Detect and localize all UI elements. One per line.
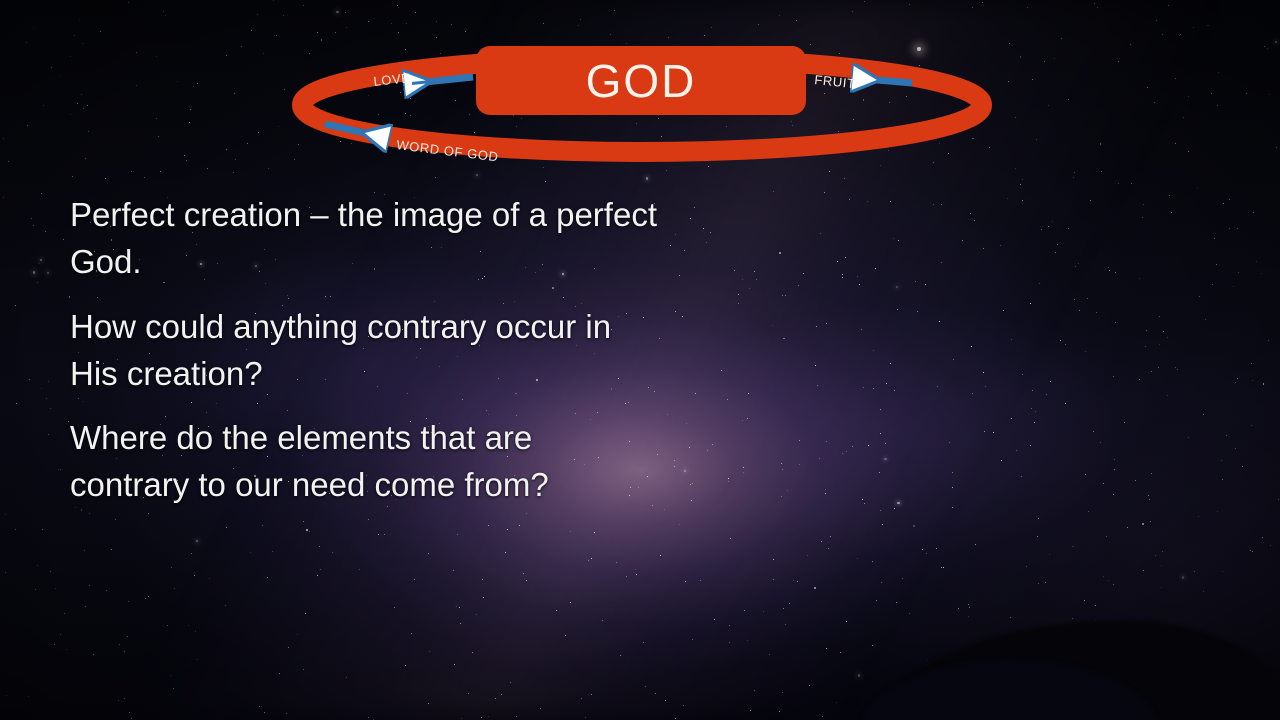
star	[1222, 571, 1223, 572]
star	[815, 365, 816, 366]
star	[703, 228, 704, 229]
star	[495, 698, 496, 699]
star	[1155, 555, 1156, 556]
star	[727, 399, 728, 400]
star	[738, 294, 739, 295]
star	[1041, 229, 1042, 230]
star	[37, 282, 38, 283]
star	[807, 555, 808, 556]
star	[37, 565, 38, 566]
star	[985, 386, 986, 387]
star	[1161, 565, 1162, 566]
star	[209, 578, 210, 579]
star	[279, 673, 280, 674]
star	[1036, 139, 1037, 140]
star	[1020, 184, 1021, 185]
star	[1143, 570, 1144, 571]
star	[1090, 200, 1091, 201]
star	[1246, 93, 1247, 94]
star	[15, 529, 16, 530]
star	[828, 548, 829, 549]
star	[70, 114, 71, 115]
star	[1262, 537, 1263, 538]
star	[754, 271, 755, 272]
star	[1148, 495, 1149, 496]
star	[707, 450, 708, 451]
star	[1075, 266, 1076, 267]
star	[54, 644, 55, 645]
star	[1221, 460, 1222, 461]
star	[16, 403, 17, 404]
star	[1263, 383, 1265, 385]
star	[42, 529, 43, 530]
star	[191, 553, 192, 554]
star	[817, 385, 818, 386]
star	[769, 654, 770, 655]
star	[70, 56, 71, 57]
star	[158, 136, 159, 137]
star	[93, 654, 94, 655]
star	[1278, 499, 1279, 500]
star	[797, 581, 798, 582]
star	[1207, 25, 1209, 27]
star	[1242, 466, 1243, 467]
star	[1142, 217, 1143, 218]
star	[1057, 244, 1058, 245]
star	[1045, 582, 1046, 583]
star	[1238, 272, 1239, 273]
star	[111, 549, 112, 550]
star	[1100, 143, 1102, 145]
star	[852, 11, 853, 12]
star	[100, 31, 101, 32]
star	[1010, 617, 1011, 618]
paragraph-1: Perfect creation – the image of a perfec…	[70, 192, 690, 286]
star	[983, 372, 984, 373]
star	[1235, 382, 1236, 383]
star	[952, 507, 954, 509]
star	[710, 232, 711, 233]
star	[378, 534, 379, 535]
star	[235, 159, 236, 160]
star	[306, 529, 308, 531]
star	[863, 387, 864, 388]
star	[226, 55, 227, 56]
star	[1108, 267, 1109, 268]
star	[721, 370, 722, 371]
star	[781, 463, 782, 464]
star	[394, 607, 395, 608]
star	[729, 625, 731, 627]
star	[700, 580, 701, 581]
fruit-arrow	[854, 78, 912, 83]
star	[131, 718, 132, 719]
star	[1073, 177, 1074, 178]
star	[974, 220, 976, 222]
star	[173, 688, 174, 689]
star	[842, 274, 843, 275]
star	[1046, 394, 1047, 395]
star	[1022, 200, 1023, 201]
star	[643, 642, 644, 643]
star	[1229, 199, 1230, 200]
star	[846, 451, 847, 452]
star	[345, 12, 346, 13]
star	[826, 648, 827, 649]
star	[556, 610, 557, 611]
god-box-label: GOD	[586, 55, 697, 107]
star	[1022, 374, 1023, 375]
star	[163, 11, 164, 12]
star	[683, 705, 684, 706]
star	[1252, 551, 1253, 552]
star	[1151, 371, 1152, 372]
star	[45, 231, 46, 232]
star	[60, 469, 61, 470]
star	[39, 263, 40, 264]
star	[857, 276, 858, 277]
star	[1038, 518, 1039, 519]
star	[29, 379, 30, 380]
fruit-label: FRUIT	[814, 72, 857, 91]
star	[570, 602, 571, 603]
star	[898, 240, 899, 241]
star	[879, 472, 880, 473]
star	[283, 15, 284, 16]
star	[26, 42, 27, 43]
star	[744, 610, 745, 611]
star	[33, 28, 34, 29]
star	[124, 651, 125, 652]
star	[1163, 331, 1164, 332]
star	[272, 551, 273, 552]
star	[570, 531, 571, 532]
star	[1011, 339, 1012, 340]
star	[655, 693, 656, 694]
star	[127, 636, 128, 637]
star	[952, 472, 953, 473]
star	[975, 544, 976, 545]
star	[799, 440, 800, 441]
star	[819, 458, 820, 459]
star	[968, 616, 969, 617]
star	[136, 52, 137, 53]
star	[880, 409, 881, 410]
star	[225, 605, 226, 606]
star	[156, 56, 157, 57]
star	[47, 272, 49, 274]
star	[451, 24, 452, 25]
star	[148, 596, 149, 597]
star	[782, 469, 783, 470]
star	[927, 659, 928, 660]
star	[1015, 117, 1016, 118]
star	[1020, 56, 1022, 58]
star	[303, 521, 304, 522]
star	[1096, 312, 1097, 313]
star	[747, 640, 748, 641]
star	[842, 453, 843, 454]
star	[714, 619, 715, 620]
star	[565, 635, 566, 636]
star	[1216, 264, 1217, 265]
star	[872, 645, 873, 646]
star	[84, 550, 85, 551]
star	[3, 197, 4, 198]
star	[193, 86, 194, 87]
star	[728, 481, 729, 482]
star	[1095, 605, 1096, 606]
star	[1251, 425, 1252, 426]
star	[1193, 27, 1194, 28]
star	[750, 710, 751, 711]
star	[824, 192, 825, 193]
star	[1261, 273, 1262, 274]
star	[1060, 340, 1061, 341]
star	[1197, 188, 1198, 189]
star	[690, 218, 691, 219]
star	[679, 524, 680, 525]
star	[259, 706, 260, 707]
star	[873, 388, 874, 389]
star	[1139, 278, 1140, 279]
star	[809, 685, 810, 686]
star	[89, 585, 90, 586]
star	[591, 694, 592, 695]
star	[803, 273, 804, 274]
star	[953, 359, 954, 360]
star	[822, 716, 823, 717]
star	[234, 93, 235, 94]
star	[1054, 58, 1055, 59]
star	[820, 233, 821, 234]
paragraph-2: How could anything contrary occur in His…	[70, 304, 690, 398]
star	[543, 23, 544, 24]
star	[970, 213, 971, 214]
star	[730, 538, 731, 539]
star	[1016, 450, 1017, 451]
star	[194, 575, 195, 576]
star	[488, 716, 489, 717]
star	[167, 625, 168, 626]
star	[840, 652, 841, 653]
star	[264, 712, 265, 713]
star	[481, 717, 482, 718]
star	[884, 458, 886, 460]
star	[902, 670, 903, 671]
star	[783, 338, 785, 340]
star	[1183, 117, 1184, 118]
star	[1085, 474, 1086, 475]
star	[60, 634, 61, 635]
star	[257, 14, 258, 15]
star	[1032, 390, 1033, 391]
star	[68, 421, 69, 422]
star	[591, 558, 592, 559]
star	[984, 431, 985, 432]
star	[1061, 38, 1062, 39]
star	[749, 288, 750, 289]
star	[105, 178, 106, 179]
star	[526, 513, 527, 514]
star	[284, 89, 285, 90]
star	[1008, 81, 1009, 82]
star	[72, 176, 73, 177]
star	[27, 125, 28, 126]
star	[1268, 340, 1269, 341]
star	[1267, 48, 1268, 49]
star	[50, 571, 52, 573]
star	[902, 578, 903, 579]
star	[1009, 43, 1010, 44]
star	[165, 15, 166, 16]
star	[1269, 94, 1270, 95]
star	[384, 534, 385, 535]
star	[1167, 337, 1168, 338]
star	[1180, 34, 1181, 35]
star	[747, 418, 748, 419]
star	[359, 569, 360, 570]
star	[505, 552, 506, 553]
star	[523, 573, 524, 574]
star	[1223, 203, 1224, 204]
star	[488, 525, 489, 526]
star	[890, 363, 891, 364]
star	[1031, 408, 1032, 409]
star	[118, 700, 119, 701]
star	[483, 597, 484, 598]
star	[685, 581, 686, 582]
star	[1022, 179, 1023, 180]
star	[616, 562, 617, 563]
star	[1233, 286, 1234, 287]
star	[1015, 168, 1016, 169]
star	[825, 489, 826, 490]
star	[1177, 369, 1178, 370]
star	[48, 434, 49, 435]
star	[482, 579, 483, 580]
star	[787, 490, 788, 491]
star	[1175, 143, 1176, 144]
star	[826, 323, 827, 324]
star	[1026, 566, 1027, 567]
star	[89, 513, 90, 514]
god-cycle-diagram: GOD LOVE FRUIT WORD OF GOD	[286, 28, 996, 178]
star	[1021, 476, 1022, 477]
star	[816, 326, 817, 327]
star	[267, 577, 268, 578]
star	[1079, 310, 1080, 311]
star	[1151, 473, 1152, 474]
star	[660, 555, 661, 556]
star	[241, 46, 242, 47]
star	[782, 692, 783, 693]
star	[837, 261, 838, 262]
star	[288, 647, 289, 648]
star	[460, 623, 461, 624]
star	[635, 569, 636, 570]
star	[1072, 546, 1074, 548]
star	[468, 693, 469, 694]
star	[368, 717, 369, 718]
star	[414, 579, 415, 580]
star	[712, 444, 713, 445]
star	[106, 590, 107, 591]
star	[602, 620, 603, 621]
star	[972, 393, 973, 394]
star	[476, 614, 477, 615]
star	[872, 561, 873, 562]
star	[754, 690, 755, 691]
star	[131, 171, 132, 172]
star	[174, 588, 175, 589]
star	[825, 493, 826, 494]
star	[1097, 7, 1098, 8]
star	[1211, 93, 1212, 94]
star	[406, 23, 407, 24]
star	[297, 634, 298, 635]
star	[1093, 431, 1094, 432]
star	[1049, 554, 1050, 555]
star	[636, 574, 637, 575]
star	[1032, 79, 1033, 80]
star	[913, 525, 915, 527]
star	[909, 613, 910, 614]
star	[588, 560, 589, 561]
star	[1217, 105, 1218, 106]
star	[171, 567, 172, 568]
star	[691, 500, 692, 501]
star	[1188, 96, 1189, 97]
star	[368, 519, 369, 520]
star	[1115, 272, 1116, 273]
star	[875, 268, 876, 269]
star	[33, 225, 34, 226]
star	[8, 161, 9, 162]
star	[1168, 5, 1169, 6]
star	[258, 132, 259, 133]
star	[1131, 183, 1132, 184]
star	[5, 514, 6, 515]
star	[1161, 587, 1162, 588]
star	[925, 284, 926, 285]
star	[81, 509, 83, 511]
star	[119, 644, 120, 645]
star	[665, 700, 666, 701]
star	[128, 601, 129, 602]
star	[1039, 283, 1040, 284]
star	[897, 502, 899, 504]
star	[3, 138, 4, 139]
star	[128, 2, 129, 3]
star	[129, 712, 130, 713]
star	[1203, 591, 1204, 592]
star	[620, 655, 621, 656]
star	[1130, 44, 1131, 45]
star	[1169, 195, 1170, 196]
star	[472, 652, 473, 653]
star	[1156, 20, 1157, 21]
star	[694, 207, 695, 208]
star	[373, 719, 374, 720]
love-label: LOVE	[373, 70, 411, 89]
star	[799, 464, 800, 465]
star	[35, 589, 36, 590]
star	[79, 20, 80, 21]
star	[77, 103, 78, 104]
star	[1250, 550, 1251, 551]
star	[429, 651, 430, 652]
